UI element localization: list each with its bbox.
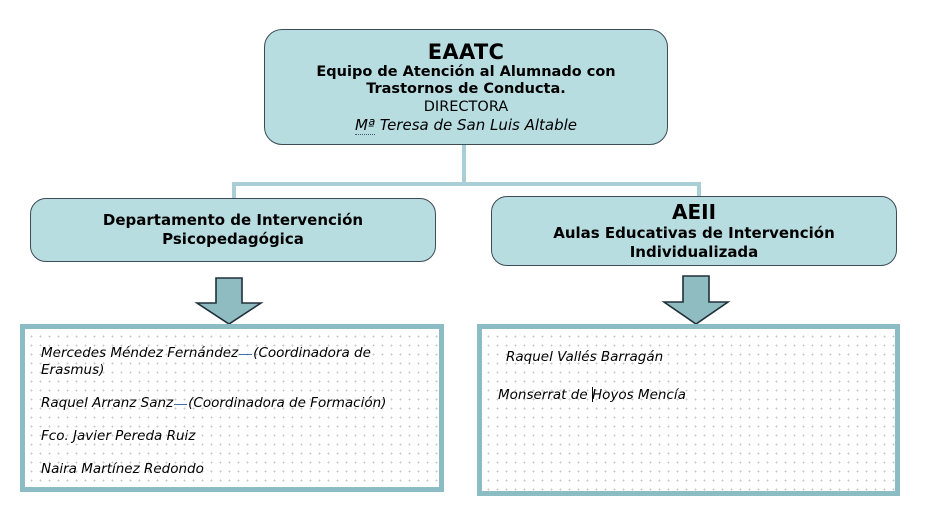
list-item[interactable]: Fco. Javier Pereda Ruiz [41,428,423,445]
edit-underline-mark [239,354,252,355]
eaatc-fullname-line1: Equipo de Atención al Alumnado con [316,64,615,81]
member-panel-aeii: Raquel Vallés Barragán Monserrat de Hoyo… [477,324,900,496]
aeii-acronym: AEII [672,201,716,224]
node-eaatc[interactable]: EAATC Equipo de Atención al Alumnado con… [264,29,668,145]
list-item[interactable]: Monserrat de Hoyos Mencía [498,384,879,404]
list-item[interactable]: Mercedes Méndez Fernández(Coordinadora d… [41,345,423,379]
down-arrow-icon-right [657,275,735,325]
eaatc-director: Mª Teresa de San Luis Altable [355,116,577,135]
director-name-rest: Teresa de San Luis Altable [380,116,577,134]
member-name: Raquel Arranz Sanz [41,395,173,411]
list-item[interactable]: Naira Martínez Redondo [41,461,423,478]
member-name-before-caret: Monserrat de [498,387,592,403]
dept-heading-line1: Departamento de Intervención [103,211,363,230]
eaatc-acronym: EAATC [428,40,504,64]
member-name: Mercedes Méndez Fernández [41,345,238,361]
text-cursor-caret [592,387,593,402]
director-name-prefix: Mª [355,116,375,135]
member-name-after-caret: Hoyos Mencía [592,387,686,403]
list-item[interactable]: Raquel Vallés Barragán [498,349,879,366]
eaatc-role-label: DIRECTORA [424,98,508,116]
node-aeii[interactable]: AEII Aulas Educativas de Intervención In… [491,196,897,266]
connector-stem-vertical [462,145,466,184]
member-note: (Coordinadora de Formación) [188,395,386,411]
edit-underline-mark [174,404,187,405]
list-item[interactable]: Raquel Arranz Sanz(Coordinadora de Forma… [41,395,423,412]
member-name: Raquel Vallés Barragán [506,349,663,365]
aeii-heading-line2: Individualizada [630,243,759,262]
eaatc-fullname-line2: Trastornos de Conducta. [366,81,566,98]
node-departamento-intervencion-psicopedagogica[interactable]: Departamento de Intervención Psicopedagó… [30,198,436,262]
down-arrow-icon-left [190,277,268,325]
member-panel-departamento: Mercedes Méndez Fernández(Coordinadora d… [20,324,444,492]
member-name: Fco. Javier Pereda Ruiz [41,428,195,444]
connector-horizontal-bar [232,182,701,186]
dept-heading-line2: Psicopedagógica [162,230,304,249]
org-chart-canvas: EAATC Equipo de Atención al Alumnado con… [0,0,930,518]
member-name: Naira Martínez Redondo [41,461,204,477]
aeii-heading-line1: Aulas Educativas de Intervención [553,224,835,243]
